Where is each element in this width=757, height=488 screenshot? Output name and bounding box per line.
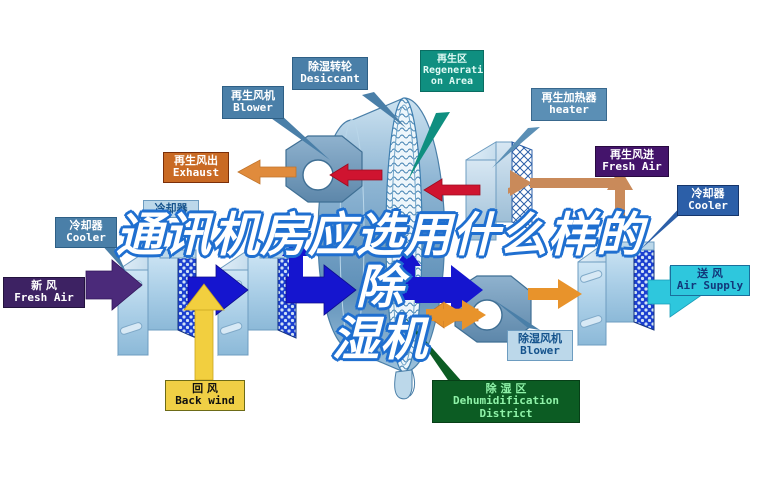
label-en: Fresh Air bbox=[598, 161, 666, 173]
label-en: Cooler bbox=[58, 232, 114, 244]
label-dehumidification-district: 除 湿 区 Dehumidification District bbox=[432, 380, 580, 423]
label-en: Dehumidification bbox=[435, 395, 577, 407]
page-title-line-1: 通讯机房应选用什么样的除 bbox=[110, 210, 650, 314]
label-fresh-air-in: 新 风 Fresh Air bbox=[3, 277, 85, 308]
label-en: Exhaust bbox=[166, 167, 226, 179]
label-en: Cooler bbox=[680, 200, 736, 212]
label-regeneration-fresh-air-in: 再生风进 Fresh Air bbox=[595, 146, 669, 177]
label-back-wind: 回 风 Back wind bbox=[165, 380, 245, 411]
label-regeneration-heater: 再生加热器 heater bbox=[531, 88, 607, 121]
regeneration-blower-unit bbox=[286, 136, 362, 202]
label-air-supply: 送 风 Air Supply bbox=[670, 265, 750, 296]
label-cooler-left: 冷却器 Cooler bbox=[55, 217, 117, 248]
label-en: Air Supply bbox=[673, 280, 747, 292]
label-en2: on Area bbox=[423, 76, 481, 87]
label-en: Desiccant bbox=[295, 73, 365, 85]
page-title-line-2: 湿机 bbox=[110, 314, 650, 366]
label-en: Back wind bbox=[168, 395, 242, 407]
label-en: Blower bbox=[225, 102, 281, 114]
label-regeneration-area: 再生区 Regenerati on Area bbox=[420, 50, 484, 92]
label-en: Regenerati bbox=[423, 65, 481, 76]
label-regeneration-exhaust: 再生风出 Exhaust bbox=[163, 152, 229, 183]
label-cn: 再生区 bbox=[423, 54, 481, 65]
page-title: 通讯机房应选用什么样的除 湿机 bbox=[110, 210, 650, 366]
label-cooler-right: 冷却器 Cooler bbox=[677, 185, 739, 216]
label-en: heater bbox=[534, 104, 604, 116]
label-desiccant-wheel: 除湿转轮 Desiccant bbox=[292, 57, 368, 90]
label-en2: District bbox=[435, 408, 577, 420]
dehumidifier-diagram: 除湿转轮 Desiccant 再生风机 Blower 再生区 Regenerat… bbox=[0, 0, 757, 488]
label-en: Fresh Air bbox=[6, 292, 82, 304]
label-regeneration-blower: 再生风机 Blower bbox=[222, 86, 284, 119]
